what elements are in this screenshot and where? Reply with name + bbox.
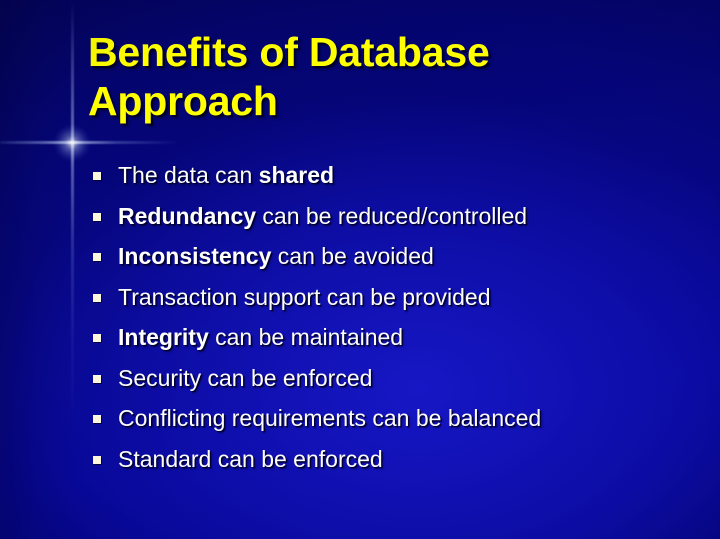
bullet-square-icon	[93, 375, 101, 383]
list-item-text-plain: Conflicting requirements can be balanced	[118, 405, 541, 431]
star-glint-icon	[54, 125, 90, 161]
bullet-square-icon	[93, 253, 101, 261]
presentation-slide: Benefits of Database Approach The data c…	[0, 0, 720, 539]
slide-title: Benefits of Database Approach	[88, 28, 688, 126]
list-item-text-plain: Standard can be enforced	[118, 446, 383, 472]
horizontal-light-ray-decoration	[0, 141, 200, 144]
list-item: Security can be enforced	[93, 363, 693, 404]
list-item-text-plain: The data can	[118, 162, 259, 188]
list-item-label: Inconsistency can be avoided	[118, 241, 434, 271]
list-item: The data can shared	[93, 160, 693, 201]
list-item-label: Integrity can be maintained	[118, 322, 403, 352]
list-item-text-tail: can be avoided	[271, 243, 433, 269]
list-item-label: Transaction support can be provided	[118, 282, 490, 312]
list-item-text-emphasis: Inconsistency	[118, 243, 271, 269]
list-item-text-plain: Security can be enforced	[118, 365, 372, 391]
list-item-text-tail: can be reduced/controlled	[256, 203, 527, 229]
list-item-text-plain: Transaction support can be provided	[118, 284, 490, 310]
list-item: Conflicting requirements can be balanced	[93, 403, 693, 444]
list-item: Redundancy can be reduced/controlled	[93, 201, 693, 242]
list-item-label: Conflicting requirements can be balanced	[118, 403, 541, 433]
list-item-text-emphasis: shared	[259, 162, 334, 188]
bullet-square-icon	[93, 456, 101, 464]
list-item: Inconsistency can be avoided	[93, 241, 693, 282]
list-item-text-emphasis: Integrity	[118, 324, 209, 350]
bullet-list: The data can sharedRedundancy can be red…	[93, 160, 693, 484]
list-item: Transaction support can be provided	[93, 282, 693, 323]
list-item-label: Standard can be enforced	[118, 444, 383, 474]
bullet-square-icon	[93, 294, 101, 302]
list-item-text-emphasis: Redundancy	[118, 203, 256, 229]
bullet-square-icon	[93, 213, 101, 221]
list-item: Standard can be enforced	[93, 444, 693, 485]
list-item-text-tail: can be maintained	[209, 324, 403, 350]
vertical-light-band-decoration	[71, 0, 74, 539]
bullet-square-icon	[93, 172, 101, 180]
list-item: Integrity can be maintained	[93, 322, 693, 363]
list-item-label: The data can shared	[118, 160, 334, 190]
left-panel-shading	[0, 0, 72, 539]
bullet-square-icon	[93, 415, 101, 423]
list-item-label: Redundancy can be reduced/controlled	[118, 201, 527, 231]
bullet-square-icon	[93, 334, 101, 342]
list-item-label: Security can be enforced	[118, 363, 372, 393]
